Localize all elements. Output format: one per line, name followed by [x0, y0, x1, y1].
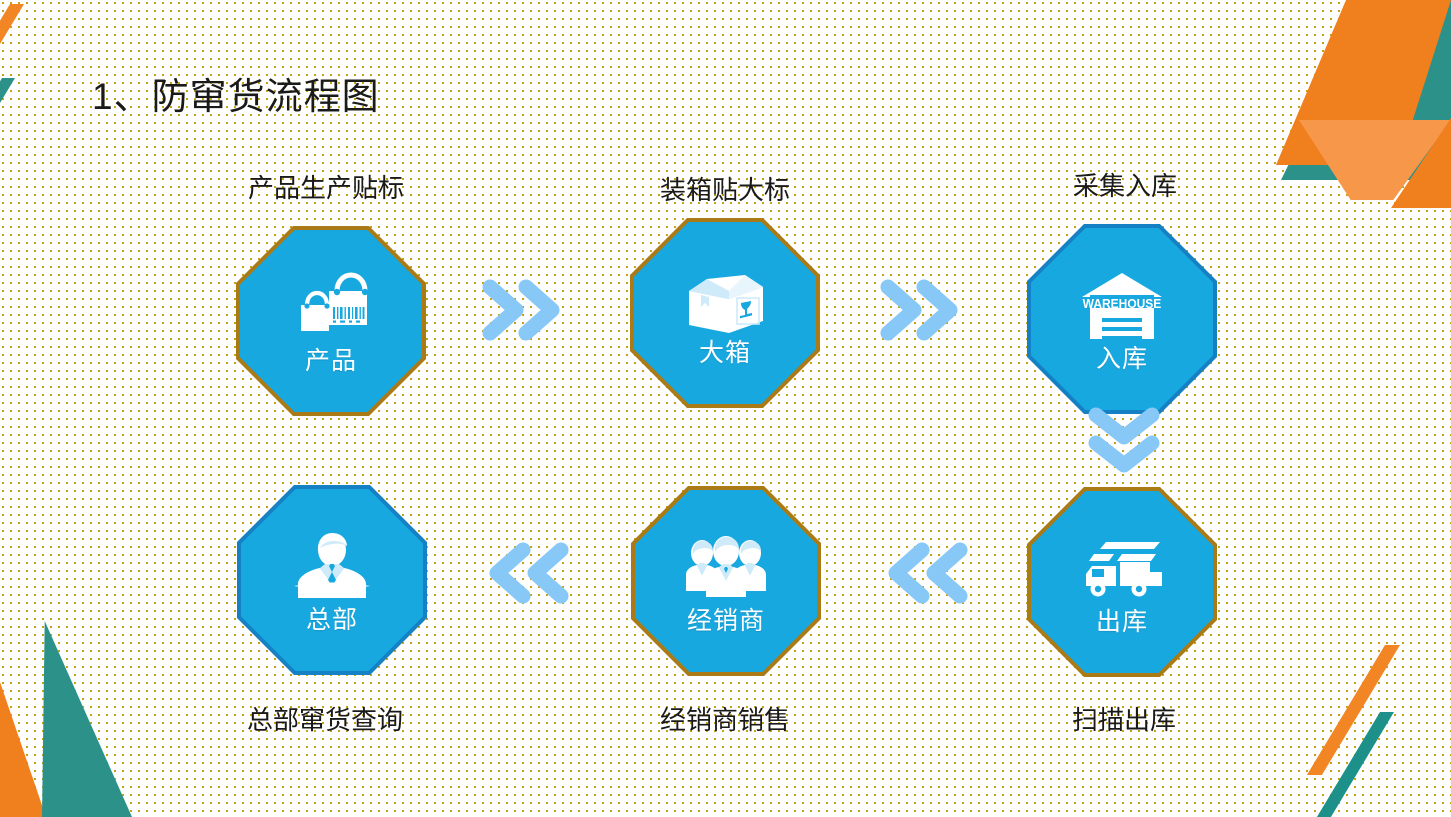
bottom-left-teal-triangle — [42, 621, 132, 817]
top-left-orange-stripe — [0, 4, 24, 122]
node-inbound[interactable]: WAREHOUSE 入库 — [1027, 224, 1217, 414]
node-dealer[interactable]: 经销商 — [631, 486, 821, 676]
bottom-right-orange-stripe — [1307, 645, 1400, 775]
top-left-teal-stripe — [0, 78, 15, 184]
node-inbound-label: 入库 — [1096, 347, 1148, 372]
three-people-icon — [680, 529, 772, 607]
bottom-right-teal-stripe — [1311, 712, 1394, 817]
caption-headquarters: 总部窜货查询 — [175, 700, 475, 737]
bottom-left-orange-triangle — [0, 682, 46, 817]
node-carton-label: 大箱 — [699, 341, 751, 366]
node-product[interactable]: 产品 — [236, 226, 426, 416]
arrow-dealer-to-headquarters — [485, 538, 575, 608]
caption-outbound: 扫描出库 — [974, 700, 1274, 737]
node-headquarters-shape: 总部 — [237, 485, 427, 675]
node-dealer-label: 经销商 — [687, 609, 765, 634]
node-carton[interactable]: 大箱 — [630, 218, 820, 408]
businessman-icon — [286, 528, 378, 606]
cardboard-box-icon — [679, 261, 771, 339]
delivery-truck-icon — [1076, 530, 1168, 608]
node-carton-shape: 大箱 — [630, 218, 820, 408]
caption-inbound: 采集入库 — [975, 166, 1275, 203]
arrow-carton-to-inbound — [880, 275, 970, 345]
node-product-label: 产品 — [305, 349, 357, 374]
node-headquarters-label: 总部 — [306, 608, 358, 633]
warehouse-icon-text: WAREHOUSE — [1083, 296, 1162, 310]
caption-product: 产品生产贴标 — [176, 168, 476, 205]
top-right-orange-shape — [1276, 0, 1451, 165]
node-inbound-shape: WAREHOUSE 入库 — [1027, 224, 1217, 414]
node-outbound-shape: 出库 — [1027, 487, 1217, 677]
page-title: 1、防窜货流程图 — [92, 66, 380, 120]
node-product-shape: 产品 — [236, 226, 426, 416]
warehouse-icon: WAREHOUSE — [1076, 267, 1168, 345]
node-outbound[interactable]: 出库 — [1027, 487, 1217, 677]
slide-canvas: 1、防窜货流程图 产品生产贴标 — [0, 0, 1451, 817]
top-right-light-orange-triangle — [1299, 120, 1451, 200]
arrow-inbound-to-outbound — [1084, 405, 1164, 475]
arrow-outbound-to-dealer — [884, 538, 974, 608]
node-headquarters[interactable]: 总部 — [237, 485, 427, 675]
node-outbound-label: 出库 — [1096, 610, 1148, 635]
caption-dealer: 经销商销售 — [575, 700, 875, 737]
top-right-teal-shape — [1281, 0, 1451, 180]
top-right-orange-triangle — [1391, 118, 1451, 208]
node-dealer-shape: 经销商 — [631, 486, 821, 676]
arrow-product-to-carton — [482, 275, 572, 345]
shopping-bags-barcode-icon — [285, 269, 377, 347]
caption-carton: 装箱贴大标 — [575, 170, 875, 207]
